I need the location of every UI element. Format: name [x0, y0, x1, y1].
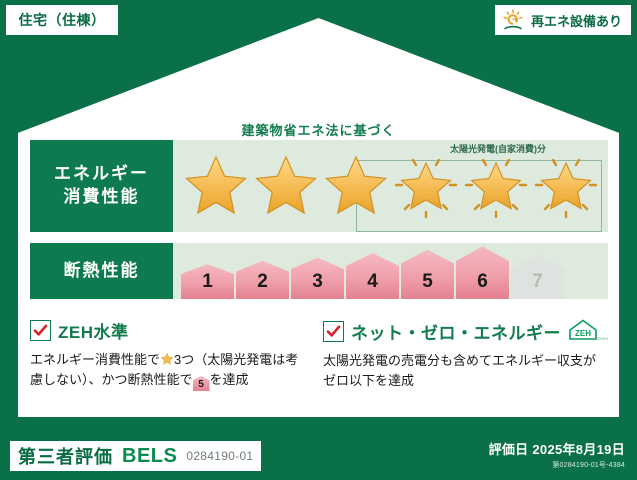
energy-performance-body: 太陽光発電(自家消費)分 — [173, 140, 608, 232]
energy-performance-label-box: エネルギー 消費性能 — [30, 140, 173, 232]
inline-grade-badge: 5 — [193, 376, 210, 391]
svg-text:Green: Green — [597, 336, 608, 341]
title-subtext: 建築物省エネ法に基づく — [0, 120, 637, 139]
bels-jp-label: 第三者評価 — [18, 443, 113, 469]
star-filled — [181, 151, 251, 221]
housing-type-label: 住宅（住棟） — [19, 10, 106, 30]
criterion-zeh: ZEH水準 エネルギー消費性能で3つ（太陽光発電は考慮しない）、かつ断熱性能で5… — [30, 318, 307, 391]
zeh-house-logo-icon: ZEH Green — [566, 318, 608, 344]
star-rating — [173, 140, 608, 232]
checkbox-checked-icon — [30, 320, 51, 341]
sun-icon — [501, 9, 525, 31]
evaluation-reference-code: 第0284190-01号-4384 — [489, 460, 625, 470]
insulation-label-box: 断熱性能 — [30, 243, 173, 299]
checkbox-checked-icon — [323, 321, 344, 342]
star-solar — [531, 151, 601, 221]
renewable-energy-tag: 再エネ設備あり — [495, 5, 631, 35]
bels-en-label: BELS — [122, 445, 177, 468]
criterion-net-zero-header: ネット・ゼロ・エネルギー ZEH Green — [323, 318, 608, 344]
criterion-net-zero-text: 太陽光発電の売電分も含めてエネルギー収支がゼロ以下を達成 — [323, 351, 608, 391]
inline-star-icon — [160, 352, 174, 366]
grade-badge: 1 — [181, 264, 234, 299]
criterion-zeh-text-c: を達成 — [210, 372, 249, 387]
svg-text:ZEH: ZEH — [575, 329, 591, 338]
housing-type-tag: 住宅（住棟） — [6, 5, 118, 35]
evaluation-date-block: 評価日 2025年8月19日 第0284190-01号-4384 — [489, 439, 625, 470]
grade-scale: 1 2 3 4 5 6 7 — [181, 243, 564, 299]
energy-label-line1: エネルギー — [54, 163, 149, 186]
grade-badge: 6 — [456, 246, 509, 299]
criterion-zeh-text-a: エネルギー消費性能で — [30, 352, 160, 367]
star-solar — [461, 151, 531, 221]
grade-badge-inactive: 7 — [511, 255, 564, 299]
grade-badge: 5 — [401, 250, 454, 299]
star-filled — [321, 151, 391, 221]
criterion-zeh-header: ZEH水準 — [30, 318, 307, 343]
bels-number: 0284190-01 — [186, 449, 253, 463]
criteria-section: ZEH水準 エネルギー消費性能で3つ（太陽光発電は考慮しない）、かつ断熱性能で5… — [30, 318, 608, 391]
grade-badge: 3 — [291, 258, 344, 299]
insulation-label: 断熱性能 — [64, 260, 140, 283]
star-solar — [391, 151, 461, 221]
energy-performance-label: 住宅（住棟） 再エネ設備あり 建築物省エネ法に基づく 省エネ性能ラベル — [0, 0, 637, 480]
energy-label-line2: 消費性能 — [64, 186, 140, 209]
criterion-zeh-title: ZEH水準 — [58, 318, 129, 343]
evaluation-date: 評価日 2025年8月19日 — [489, 439, 625, 458]
insulation-body: 1 2 3 4 5 6 7 — [173, 243, 608, 299]
criterion-zeh-text: エネルギー消費性能で3つ（太陽光発電は考慮しない）、かつ断熱性能で5を達成 — [30, 350, 307, 391]
insulation-performance-row: 断熱性能 1 2 3 4 5 6 7 — [30, 243, 608, 299]
energy-performance-row: エネルギー 消費性能 太陽光発電(自家消費)分 — [30, 140, 608, 232]
criterion-net-zero: ネット・ゼロ・エネルギー ZEH Green 太陽光発電の売電分も含めてエネルギ… — [323, 318, 608, 391]
grade-badge: 4 — [346, 253, 399, 299]
grade-badge: 2 — [236, 261, 289, 299]
renewable-energy-label: 再エネ設備あり — [531, 11, 622, 30]
bels-footer: 第三者評価 BELS 0284190-01 — [10, 441, 261, 471]
criterion-net-zero-title: ネット・ゼロ・エネルギー — [351, 319, 561, 344]
star-filled — [251, 151, 321, 221]
